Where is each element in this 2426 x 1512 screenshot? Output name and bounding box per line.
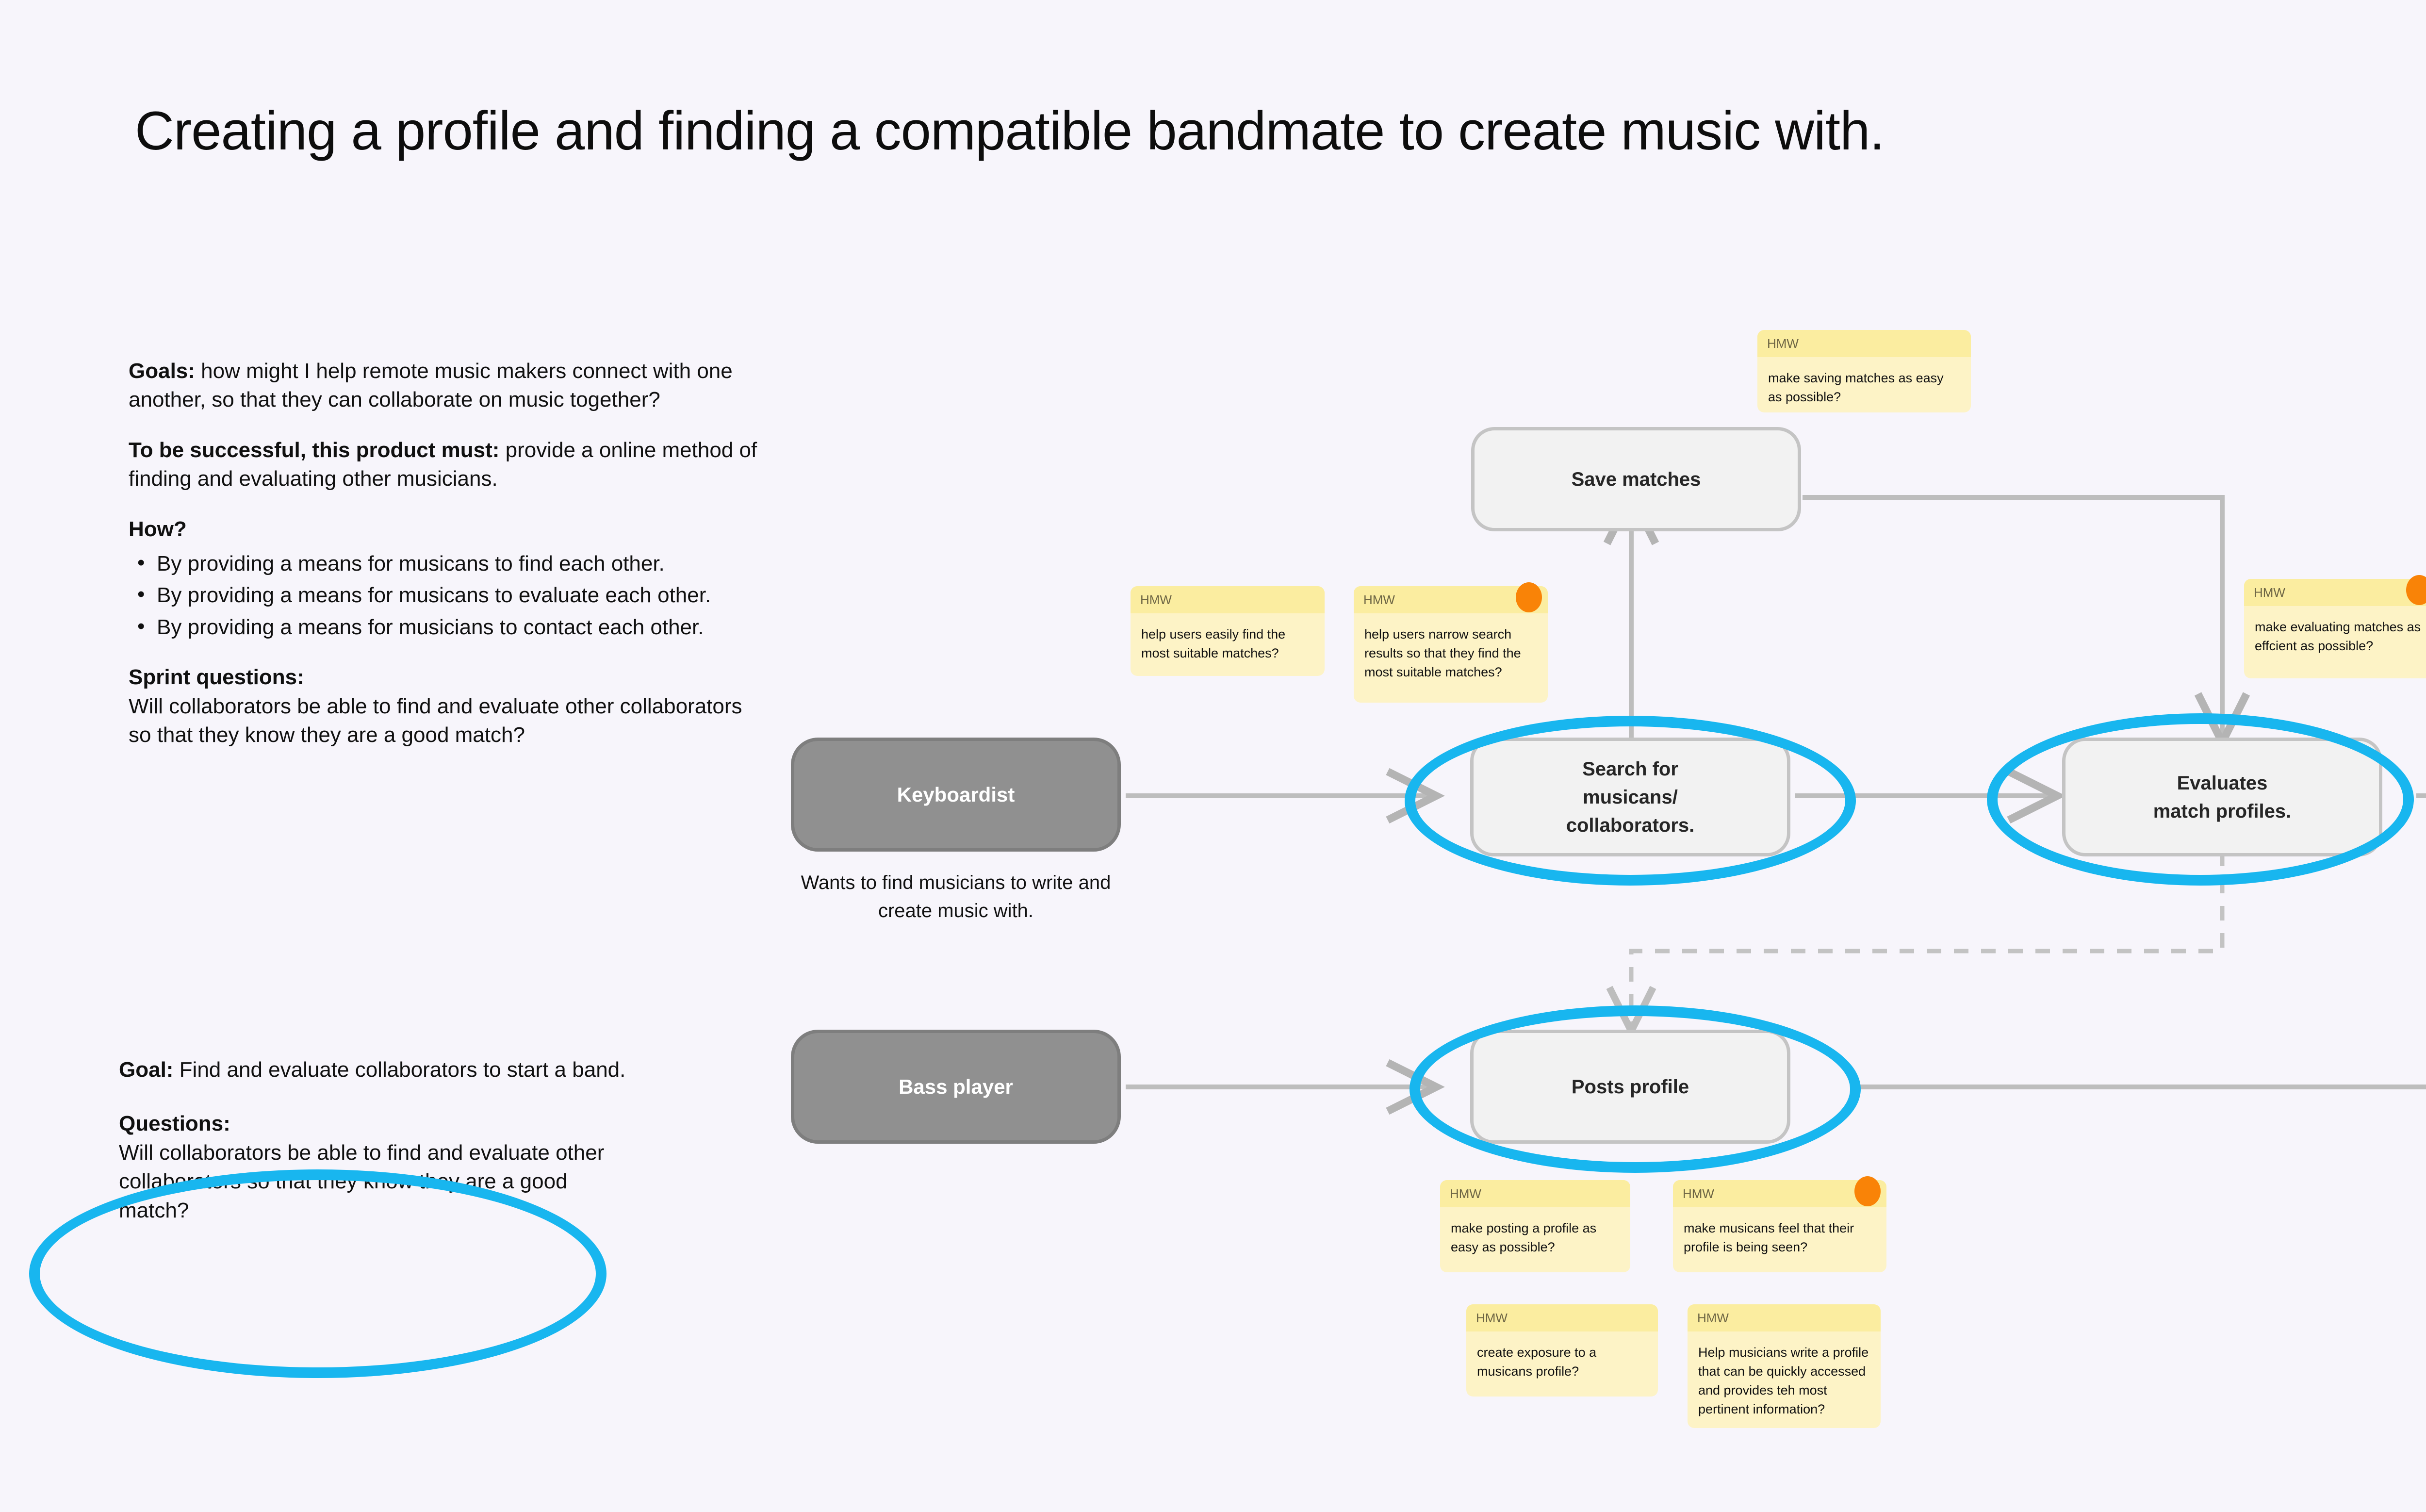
sticky-body: make posting a profile as easy as possib… <box>1440 1207 1630 1269</box>
how-bullet-list: By providing a means for musicans to fin… <box>129 549 769 641</box>
goals-label: Goals: <box>129 359 195 383</box>
goal-text: Find and evaluate collaborators to start… <box>173 1058 625 1082</box>
sprint-questions-text: Will collaborators be able to find and e… <box>129 692 769 750</box>
goals-text: how might I help remote music makers con… <box>129 359 733 411</box>
sticky-note[interactable]: HMW make posting a profile as easy as po… <box>1440 1180 1630 1272</box>
journey-map-board: Creating a profile and finding a compati… <box>0 0 2426 1512</box>
node-posts-profile[interactable]: Posts profile <box>1470 1030 1790 1144</box>
sticky-header: HMW <box>2244 579 2426 606</box>
brief-panel-secondary: Goal: Find and evaluate collaborators to… <box>119 1055 711 1225</box>
sticky-body: make musicans feel that their profile is… <box>1673 1207 1886 1269</box>
brief-panel: Goals: how might I help remote music mak… <box>129 357 769 749</box>
sticky-body: create exposure to a musicans profile? <box>1466 1331 1658 1394</box>
sticky-note[interactable]: HMW make musicans feel that their profil… <box>1673 1180 1886 1272</box>
persona-keyboardist[interactable]: Keyboardist <box>791 738 1121 852</box>
node-save-matches[interactable]: Save matches <box>1471 427 1801 531</box>
node-search[interactable]: Search for musicans/ collaborators. <box>1470 738 1790 856</box>
goal-label: Goal: <box>119 1058 173 1082</box>
sticky-body: make evaluating matches as effcient as p… <box>2244 606 2426 668</box>
sticky-note[interactable]: HMW help users easily find the most suit… <box>1131 586 1325 676</box>
questions-label: Questions: <box>119 1109 711 1138</box>
sticky-body: help users easily find the most suitable… <box>1131 613 1325 675</box>
persona-label: Keyboardist <box>897 783 1015 806</box>
node-label: Evaluates match profiles. <box>2149 769 2295 825</box>
sticky-note[interactable]: HMW make evaluating matches as effcient … <box>2244 579 2426 678</box>
sticky-body: Help musicians write a profile that can … <box>1688 1331 1881 1432</box>
sprint-questions-label: Sprint questions: <box>129 663 769 691</box>
sticky-note[interactable]: HMW create exposure to a musicans profil… <box>1466 1304 1658 1397</box>
priority-dot-icon <box>1854 1176 1881 1206</box>
sticky-body: help users narrow search results so that… <box>1354 613 1548 694</box>
sticky-note[interactable]: HMW help users narrow search results so … <box>1354 586 1548 703</box>
persona-bass-player[interactable]: Bass player <box>791 1030 1121 1144</box>
node-label: Save matches <box>1572 465 1701 493</box>
questions-text: Will collaborators be able to find and e… <box>119 1138 609 1225</box>
sticky-header: HMW <box>1466 1304 1658 1331</box>
sticky-header: HMW <box>1440 1180 1630 1207</box>
priority-dot-icon <box>1516 582 1542 612</box>
sticky-note[interactable]: HMW make saving matches as easy as possi… <box>1757 330 1971 412</box>
sticky-note[interactable]: HMW Help musicians write a profile that … <box>1688 1304 1881 1428</box>
sticky-body: make saving matches as easy as possible? <box>1757 357 1971 419</box>
sticky-header: HMW <box>1688 1304 1881 1331</box>
success-label: To be successful, this product must: <box>129 438 499 462</box>
page-title: Creating a profile and finding a compati… <box>135 99 1884 162</box>
goal-paragraph: Goal: Find and evaluate collaborators to… <box>119 1055 711 1084</box>
sticky-header: HMW <box>1757 330 1971 357</box>
node-label: Posts profile <box>1572 1073 1689 1101</box>
list-item: By providing a means for musicians to co… <box>129 613 769 641</box>
persona-keyboardist-caption: Wants to find musicians to write and cre… <box>788 869 1123 925</box>
sticky-header: HMW <box>1131 586 1325 613</box>
list-item: By providing a means for musicans to fin… <box>129 549 769 578</box>
how-label: How? <box>129 515 769 543</box>
goals-paragraph: Goals: how might I help remote music mak… <box>129 357 769 414</box>
node-evaluates[interactable]: Evaluates match profiles. <box>2062 738 2382 856</box>
success-paragraph: To be successful, this product must: pro… <box>129 436 769 493</box>
node-label: Search for musicans/ collaborators. <box>1550 755 1710 839</box>
persona-label: Bass player <box>899 1075 1013 1099</box>
list-item: By providing a means for musicans to eva… <box>129 581 769 609</box>
